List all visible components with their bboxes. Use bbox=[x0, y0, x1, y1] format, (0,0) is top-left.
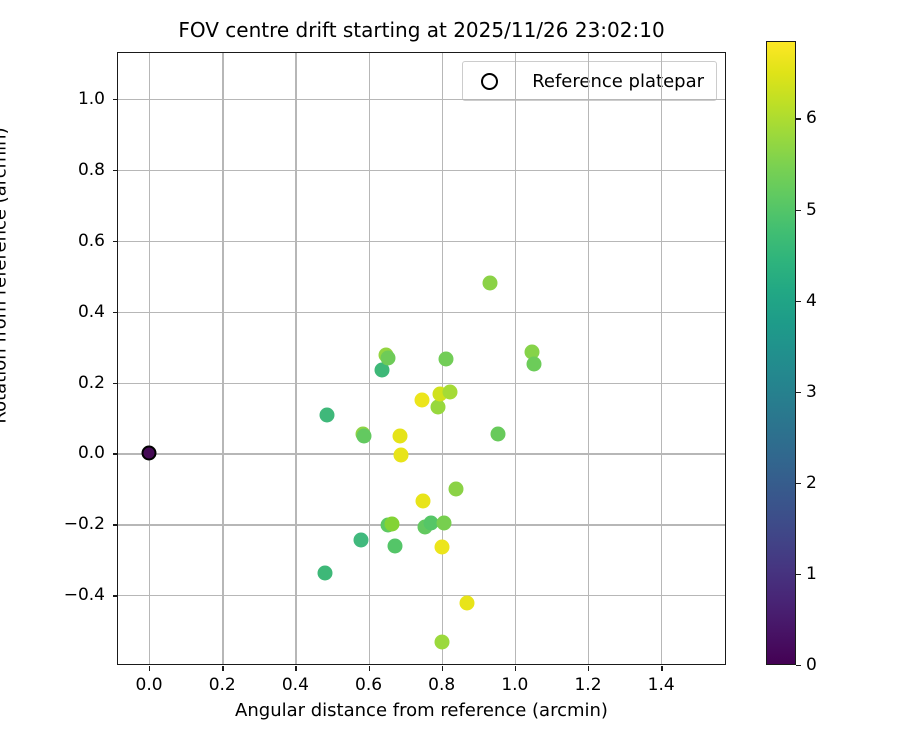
legend-label-reference-platepar: Reference platepar bbox=[532, 71, 704, 92]
scatter-point bbox=[380, 351, 395, 366]
y-tick-label: −0.2 bbox=[45, 514, 105, 534]
x-tick bbox=[442, 666, 443, 671]
y-tick bbox=[113, 383, 118, 384]
colorbar-tick-label: 5 bbox=[806, 200, 817, 220]
colorbar-tick bbox=[796, 301, 801, 302]
colorbar-gradient bbox=[766, 41, 796, 665]
y-gridline bbox=[118, 241, 725, 242]
reference-platepar-marker bbox=[142, 446, 157, 461]
scatter-point bbox=[415, 494, 430, 509]
x-gridline bbox=[369, 53, 370, 664]
legend: Reference platepar bbox=[462, 61, 717, 101]
colorbar-tick bbox=[796, 574, 801, 575]
scatter-point bbox=[442, 385, 457, 400]
legend-marker-reference-platepar bbox=[481, 73, 498, 90]
y-gridline bbox=[118, 383, 725, 384]
scatter-point bbox=[393, 448, 408, 463]
x-gridline bbox=[588, 53, 589, 664]
x-gridline bbox=[149, 53, 150, 664]
colorbar-tick bbox=[796, 210, 801, 211]
scatter-point bbox=[461, 505, 476, 520]
scatter-point bbox=[317, 566, 332, 581]
y-tick bbox=[113, 524, 118, 525]
y-tick bbox=[113, 312, 118, 313]
y-tick bbox=[113, 453, 118, 454]
colorbar-tick-label: 0 bbox=[806, 655, 817, 675]
scatter-point bbox=[434, 635, 449, 650]
y-tick-label: 0.2 bbox=[45, 373, 105, 393]
y-gridline bbox=[118, 170, 725, 171]
colorbar-tick-label: 3 bbox=[806, 382, 817, 402]
x-gridline bbox=[222, 53, 223, 664]
scatter-point bbox=[320, 408, 335, 423]
scatter-point bbox=[392, 428, 407, 443]
x-gridline bbox=[295, 53, 296, 664]
scatter-point bbox=[414, 393, 429, 408]
x-tick-label: 1.0 bbox=[501, 675, 528, 695]
x-gridline bbox=[515, 53, 516, 664]
scatter-point bbox=[482, 276, 497, 291]
colorbar-tick-label: 4 bbox=[806, 291, 817, 311]
scatter-plot-axes: Reference platepar 0.00.20.40.60.81.01.2… bbox=[117, 52, 726, 665]
scatter-point bbox=[491, 426, 506, 441]
x-tick bbox=[661, 666, 662, 671]
page-title: FOV centre drift starting at 2025/11/26 … bbox=[117, 18, 726, 42]
x-tick-label: 1.4 bbox=[648, 675, 675, 695]
x-tick-label: 0.6 bbox=[355, 675, 382, 695]
x-tick bbox=[149, 666, 150, 671]
y-tick-label: 0.6 bbox=[45, 231, 105, 251]
scatter-point bbox=[387, 538, 402, 553]
scatter-point bbox=[526, 357, 541, 372]
y-tick bbox=[113, 99, 118, 100]
x-tick bbox=[222, 666, 223, 671]
x-axis-label: Angular distance from reference (arcmin) bbox=[117, 700, 726, 721]
scatter-point bbox=[357, 428, 372, 443]
x-tick-label: 1.2 bbox=[574, 675, 601, 695]
x-tick bbox=[515, 666, 516, 671]
y-gridline bbox=[118, 312, 725, 313]
scatter-point bbox=[449, 481, 464, 496]
x-gridline bbox=[661, 53, 662, 664]
scatter-point bbox=[431, 399, 446, 414]
x-tick-label: 0.8 bbox=[428, 675, 455, 695]
y-tick bbox=[113, 170, 118, 171]
y-tick-label: 0.0 bbox=[45, 443, 105, 463]
scatter-point bbox=[434, 540, 449, 555]
colorbar-tick bbox=[796, 665, 801, 666]
colorbar-tick bbox=[796, 118, 801, 119]
colorbar-tick bbox=[796, 483, 801, 484]
scatter-point bbox=[384, 516, 399, 531]
colorbar: 0123456 bbox=[766, 41, 796, 665]
colorbar-tick-label: 2 bbox=[806, 473, 817, 493]
x-tick-label: 0.0 bbox=[136, 675, 163, 695]
y-tick bbox=[113, 595, 118, 596]
y-tick bbox=[113, 241, 118, 242]
y-gridline bbox=[118, 453, 725, 454]
y-tick-label: 0.4 bbox=[45, 302, 105, 322]
y-tick-label: −0.4 bbox=[45, 585, 105, 605]
y-gridline bbox=[118, 99, 725, 100]
x-tick-label: 0.2 bbox=[209, 675, 236, 695]
x-tick bbox=[295, 666, 296, 671]
y-tick-label: 0.8 bbox=[45, 160, 105, 180]
scatter-point bbox=[353, 532, 368, 547]
y-tick-label: 1.0 bbox=[45, 89, 105, 109]
colorbar-tick-label: 6 bbox=[806, 108, 817, 128]
colorbar-tick bbox=[796, 392, 801, 393]
y-gridline bbox=[118, 595, 725, 596]
x-tick bbox=[369, 666, 370, 671]
scatter-point bbox=[436, 516, 451, 531]
x-tick bbox=[588, 666, 589, 671]
scatter-point bbox=[439, 352, 454, 367]
x-tick-label: 0.4 bbox=[282, 675, 309, 695]
y-axis-label: Rotation from reference (arcmin) bbox=[0, 46, 11, 506]
scatter-point bbox=[459, 595, 474, 610]
matplotlib-figure: FOV centre drift starting at 2025/11/26 … bbox=[0, 0, 900, 750]
colorbar-tick-label: 1 bbox=[806, 564, 817, 584]
